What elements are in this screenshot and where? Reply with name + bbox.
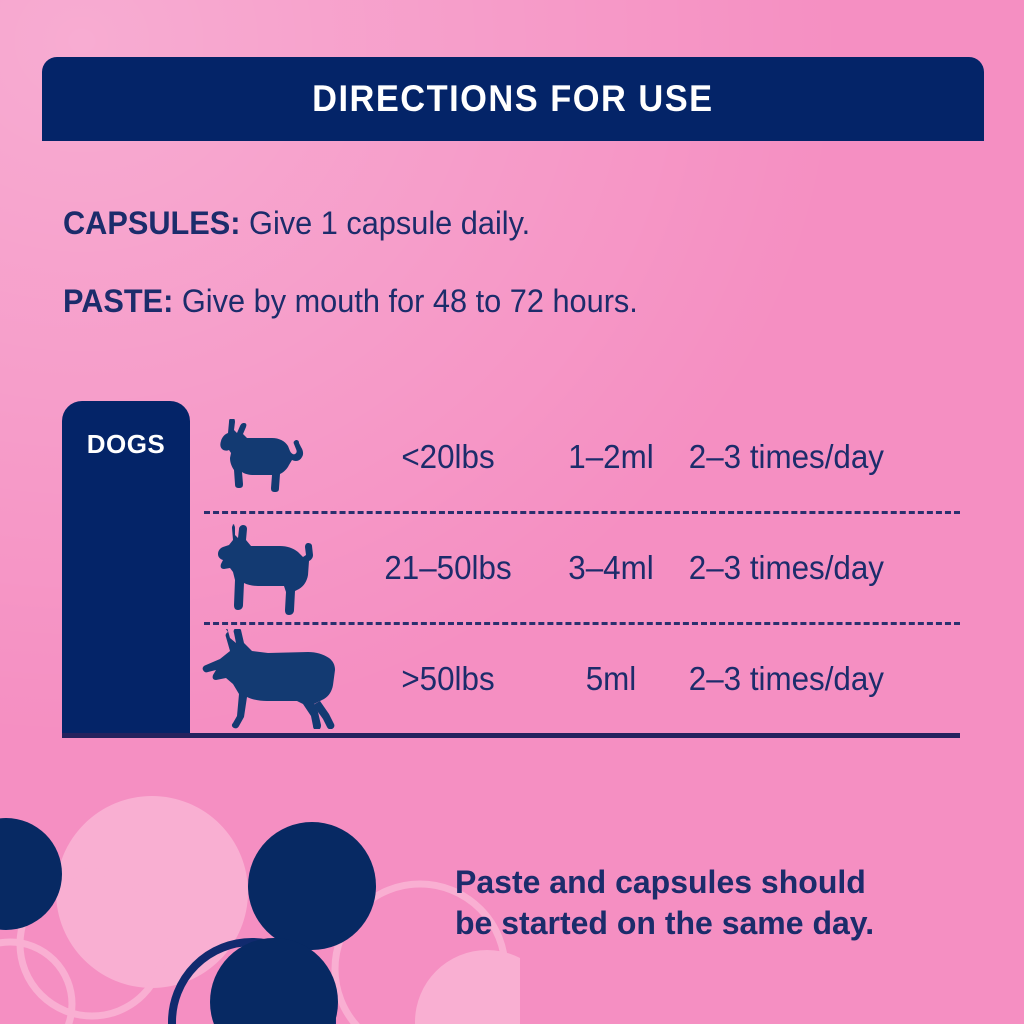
decor-circle-navy-bottom xyxy=(210,938,338,1024)
decor-circle-light-filled-large xyxy=(56,796,248,988)
row-frequency: 2–3 times/day xyxy=(683,660,953,698)
instruction-capsules-text: Give 1 capsule daily. xyxy=(241,205,531,241)
header-bar: DIRECTIONS FOR USE xyxy=(42,57,984,141)
dosing-table: <20lbs 1–2ml 2–3 times/day 21–50lbs 3–4m… xyxy=(190,401,960,735)
footer-note-line-2: be started on the same day. xyxy=(455,903,975,944)
medium-dog-icon xyxy=(190,515,350,620)
row-frequency: 2–3 times/day xyxy=(683,438,953,476)
dogs-group-label: DOGS xyxy=(62,429,190,460)
table-row: <20lbs 1–2ml 2–3 times/day xyxy=(190,401,960,512)
directions-for-use-panel: DIRECTIONS FOR USE CAPSULES: Give 1 caps… xyxy=(0,0,1024,1024)
instruction-capsules: CAPSULES: Give 1 capsule daily. xyxy=(63,205,530,242)
instruction-capsules-lead: CAPSULES: xyxy=(63,205,241,241)
row-dose: 1–2ml xyxy=(549,438,673,476)
row-dose: 3–4ml xyxy=(549,549,673,587)
small-dog-icon xyxy=(190,404,350,509)
decorative-circles xyxy=(0,764,520,1024)
decor-circle-navy-top xyxy=(248,822,376,950)
row-weight: >50lbs xyxy=(355,660,541,698)
decor-circle-light-filled-right xyxy=(415,950,520,1024)
table-row: 21–50lbs 3–4ml 2–3 times/day xyxy=(190,512,960,623)
instruction-paste: PASTE: Give by mouth for 48 to 72 hours. xyxy=(63,283,638,320)
large-dog-icon xyxy=(190,626,350,731)
footer-note: Paste and capsules should be started on … xyxy=(455,862,975,944)
dogs-group-block: DOGS xyxy=(62,401,190,735)
row-dose: 5ml xyxy=(549,660,673,698)
page-title: DIRECTIONS FOR USE xyxy=(312,78,713,120)
row-frequency: 2–3 times/day xyxy=(683,549,953,587)
table-row: >50lbs 5ml 2–3 times/day xyxy=(190,623,960,734)
instruction-paste-lead: PASTE: xyxy=(63,283,173,319)
row-weight: 21–50lbs xyxy=(355,549,541,587)
footer-note-line-1: Paste and capsules should xyxy=(455,862,975,903)
row-weight: <20lbs xyxy=(355,438,541,476)
decor-circle-navy-edge xyxy=(0,818,62,930)
table-baseline xyxy=(62,733,960,738)
instruction-paste-text: Give by mouth for 48 to 72 hours. xyxy=(173,283,637,319)
